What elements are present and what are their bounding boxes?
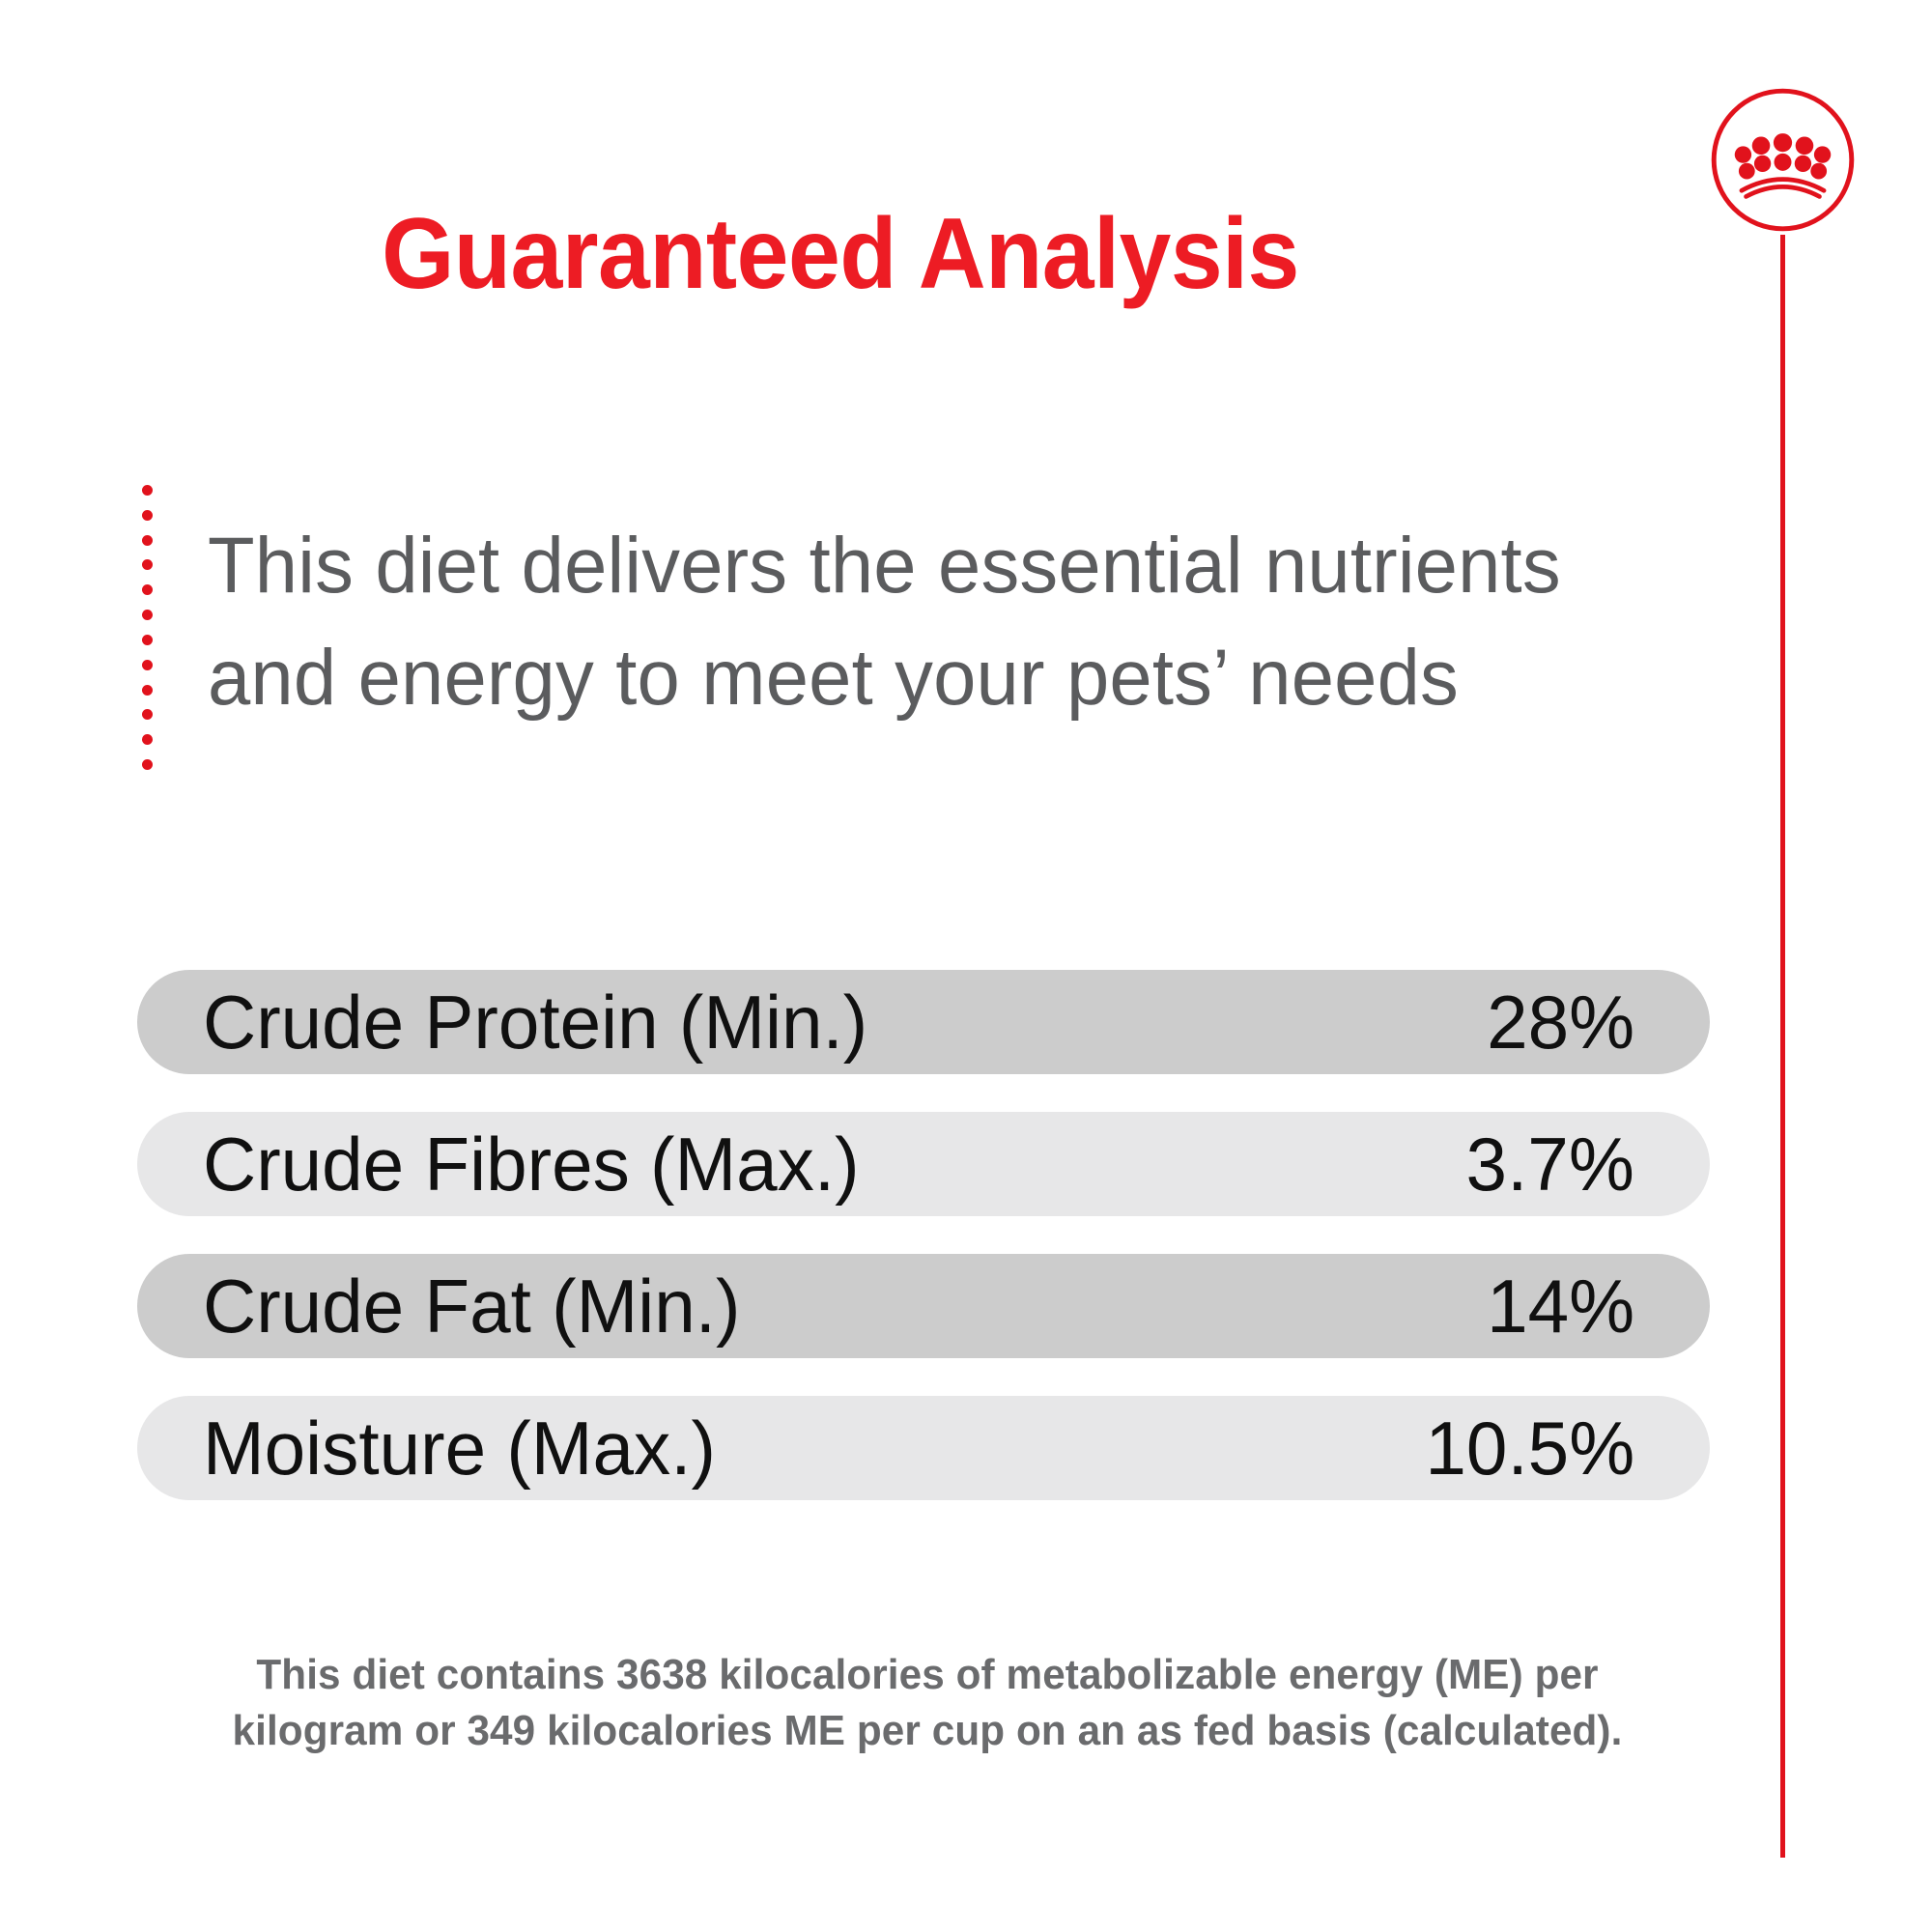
accent-dot [142, 759, 153, 770]
nutrient-value: 28% [1487, 983, 1634, 1061]
accent-dot [142, 610, 153, 620]
nutrient-value: 3.7% [1466, 1125, 1634, 1203]
accent-dot [142, 535, 153, 546]
page-canvas: Guaranteed Analysis This diet delivers t… [0, 0, 1932, 1932]
intro-text: This diet delivers the essential nutrien… [208, 510, 1669, 734]
accent-dot [142, 485, 153, 496]
accent-dot [142, 584, 153, 595]
accent-dot [142, 709, 153, 720]
dotted-accent-line [141, 485, 153, 770]
nutrient-value: 14% [1487, 1267, 1634, 1345]
accent-dot [142, 660, 153, 670]
nutrient-label: Moisture (Max.) [203, 1409, 716, 1487]
nutrient-label: Crude Fibres (Max.) [203, 1125, 860, 1203]
guaranteed-analysis-table: Crude Protein (Min.) 28% Crude Fibres (M… [137, 970, 1710, 1500]
footnote-line-1: This diet contains 3638 kilocalories of … [176, 1647, 1678, 1703]
intro-line-1: This diet delivers the essential nutrien… [208, 510, 1669, 622]
accent-dot [142, 734, 153, 745]
accent-dot [142, 510, 153, 521]
nutrient-value: 10.5% [1425, 1409, 1634, 1487]
table-row: Moisture (Max.) 10.5% [137, 1396, 1710, 1500]
energy-footnote: This diet contains 3638 kilocalories of … [176, 1647, 1678, 1759]
table-row: Crude Fat (Min.) 14% [137, 1254, 1710, 1358]
accent-dot [142, 685, 153, 696]
nutrient-label: Crude Protein (Min.) [203, 983, 867, 1061]
page-title: Guaranteed Analysis [59, 201, 1622, 307]
footnote-line-2: kilogram or 349 kilocalories ME per cup … [176, 1703, 1678, 1759]
table-row: Crude Fibres (Max.) 3.7% [137, 1112, 1710, 1216]
vertical-red-rule [1780, 235, 1785, 1858]
intro-line-2: and energy to meet your pets’ needs [208, 622, 1669, 734]
nutrient-label: Crude Fat (Min.) [203, 1267, 740, 1345]
table-row: Crude Protein (Min.) 28% [137, 970, 1710, 1074]
royal-canin-crown-logo [1708, 85, 1858, 235]
accent-dot [142, 559, 153, 570]
accent-dot [142, 635, 153, 645]
